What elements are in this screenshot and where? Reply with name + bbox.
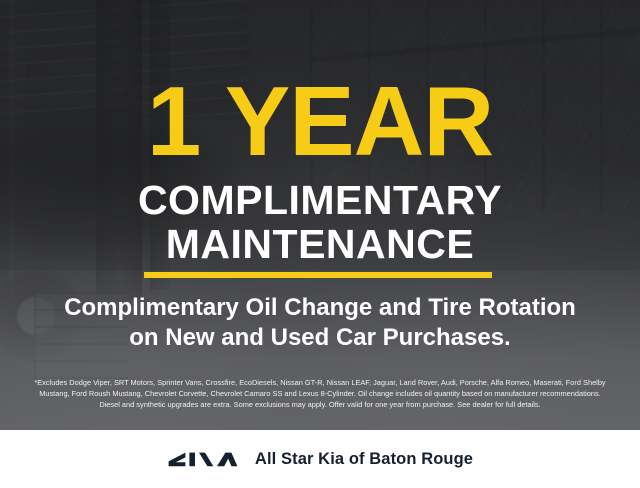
yellow-divider-rule: [144, 272, 492, 278]
disclaimer-line-2: Mustang, Ford Roush Mustang, Chevrolet C…: [14, 388, 626, 399]
disclaimer-line-3: Diesel and synthetic upgrades are extra.…: [14, 399, 626, 410]
dealer-name: All Star Kia of Baton Rouge: [255, 450, 473, 469]
offer-description-line-2: on New and Used Car Purchases.: [0, 323, 640, 353]
headline-complimentary: COMPLIMENTARY: [0, 178, 640, 222]
banner-content: 1 YEAR COMPLIMENTARY MAINTENANCE Complim…: [0, 0, 640, 488]
footer-bar: All Star Kia of Baton Rouge: [0, 430, 640, 488]
kia-logo: [167, 448, 239, 470]
disclaimer-line-1: *Excludes Dodge Viper, SRT Motors, Sprin…: [14, 377, 626, 388]
disclaimer-text: *Excludes Dodge Viper, SRT Motors, Sprin…: [14, 377, 626, 410]
offer-description-line-1: Complimentary Oil Change and Tire Rotati…: [0, 293, 640, 323]
headline-year: 1 YEAR: [0, 72, 640, 170]
headline-maintenance: MAINTENANCE: [0, 222, 640, 266]
promo-banner: 1 YEAR COMPLIMENTARY MAINTENANCE Complim…: [0, 0, 640, 488]
